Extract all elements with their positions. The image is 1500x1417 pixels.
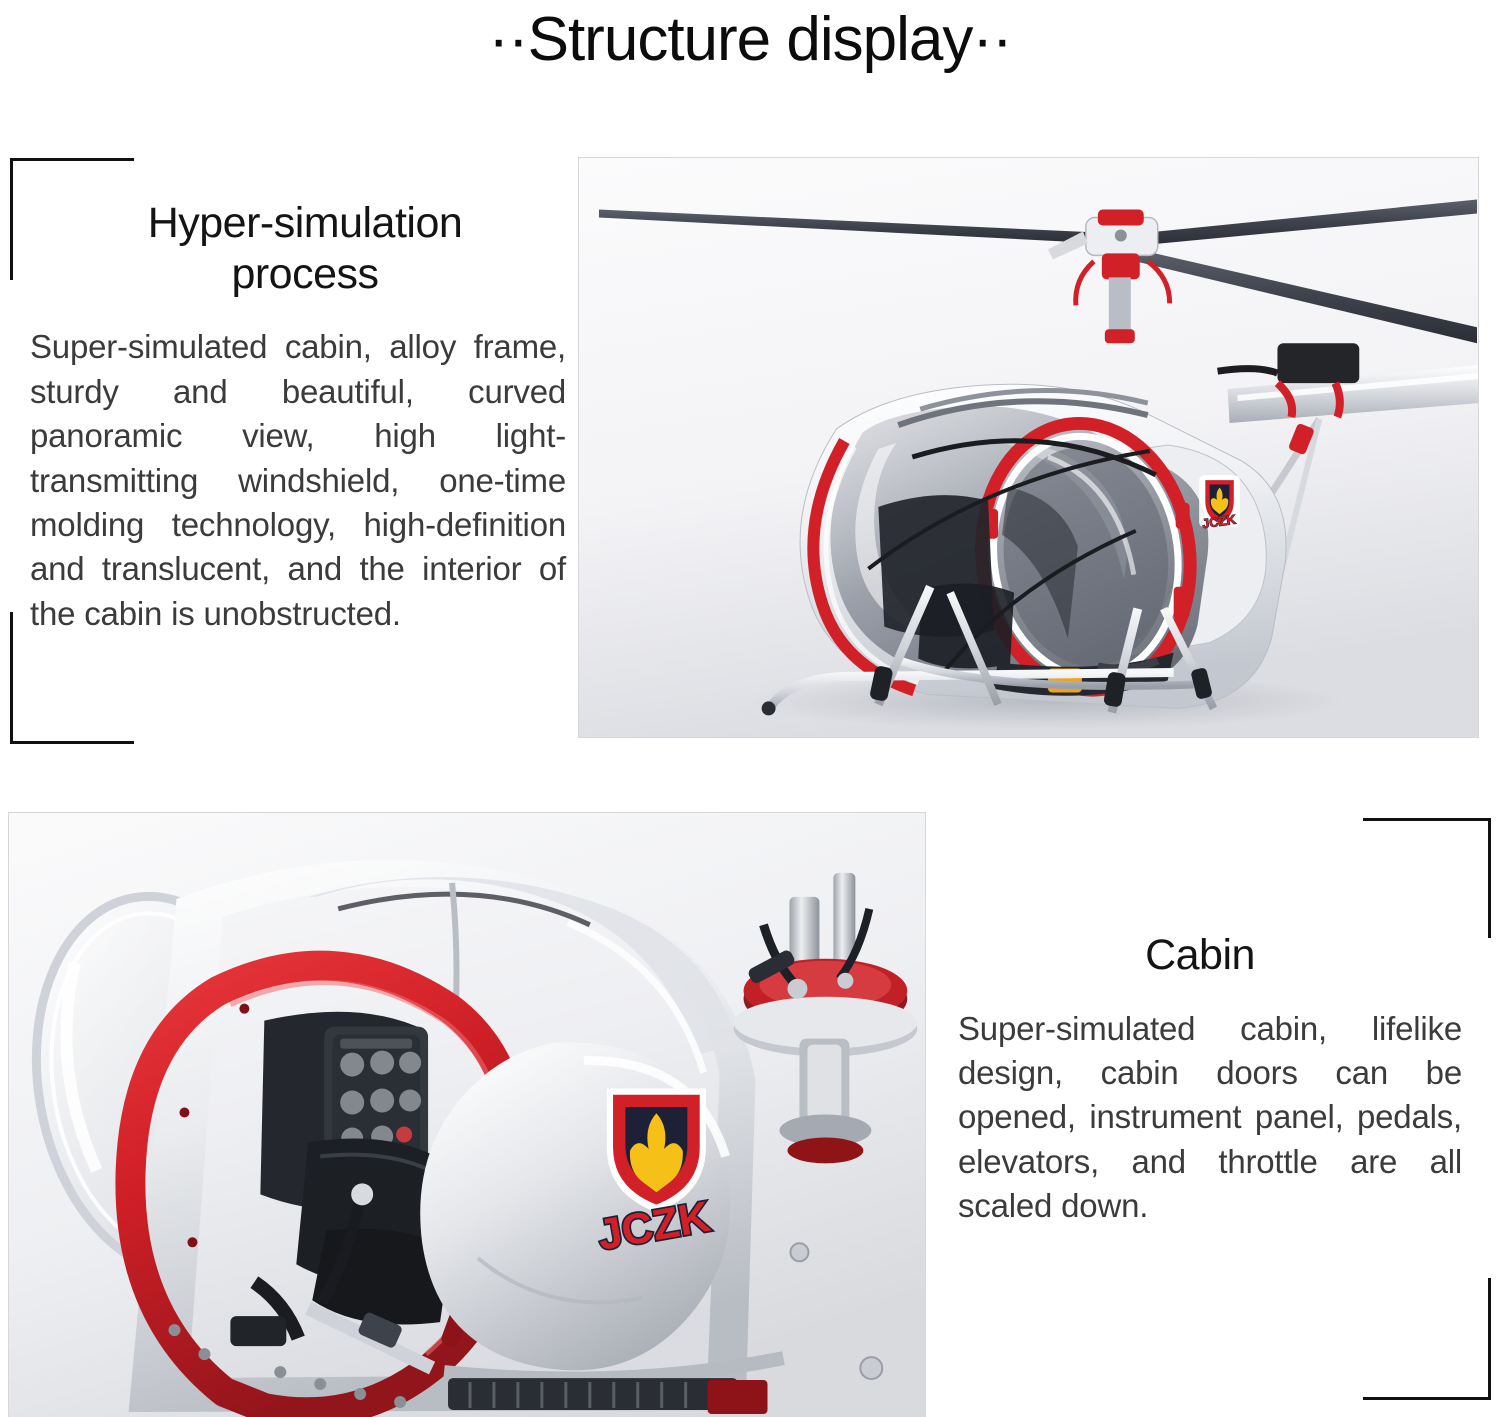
- section-cabin-text: Cabin Super-simulated cabin, lifelike de…: [958, 930, 1462, 1229]
- page-title: ··Structure display··: [0, 4, 1500, 75]
- section-cabin-heading: Cabin: [958, 930, 1462, 981]
- cabin-closeup-photo: JCZK: [8, 812, 926, 1417]
- bracket-bottom-right-vertical: [1488, 1278, 1491, 1400]
- bracket-bottom-left-vertical: [10, 612, 13, 744]
- bracket-top-right-vertical: [1488, 818, 1491, 938]
- bracket-bottom-right-horizontal: [1363, 1397, 1491, 1400]
- section-hyper-simulation-text: Hyper-simulation process Super-simulated…: [26, 198, 566, 636]
- section-cabin-body: Super-simulated cabin, lifelike design, …: [958, 1007, 1462, 1229]
- bracket-bottom-left-horizontal: [10, 741, 134, 744]
- helicopter-side-view-illustration: JCZK: [579, 158, 1478, 737]
- jczk-logo-mark: JCZK: [594, 1089, 714, 1260]
- section-hyper-simulation-body: Super-simulated cabin, alloy frame, stur…: [26, 325, 566, 636]
- jczk-badge: JCZK: [1199, 475, 1240, 531]
- section-hyper-simulation-heading: Hyper-simulation process: [26, 198, 566, 299]
- bracket-top-left-horizontal: [10, 158, 134, 161]
- bracket-top-right-horizontal: [1363, 818, 1491, 821]
- helicopter-side-view-photo: JCZK: [578, 157, 1479, 738]
- bracket-top-left-vertical: [10, 158, 13, 280]
- cabin-closeup-illustration: JCZK: [9, 813, 925, 1417]
